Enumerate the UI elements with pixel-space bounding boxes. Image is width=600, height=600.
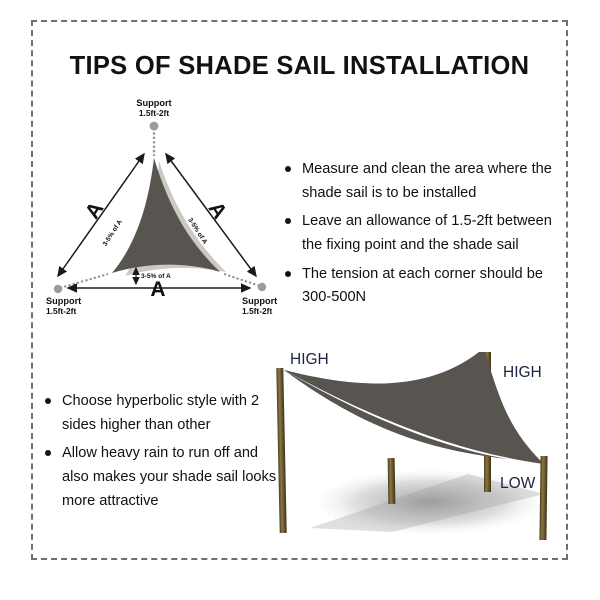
side-label-left-A: A	[81, 198, 109, 223]
triangle-shade-sail-diagram: Support 1.5ft-2ft Support 1.5ft-2ft Supp…	[36, 96, 306, 336]
support-bl-label-line2: 1.5ft-2ft	[46, 306, 76, 316]
list-item-text: Leave an allowance of 1.5-2ft between th…	[302, 213, 552, 253]
support-bottom-left-group	[54, 274, 108, 293]
support-br-dotted-line	[224, 274, 260, 286]
hyperbolic-shade-sail-diagram: HIGH HIGH LOW	[272, 352, 568, 560]
support-bl-dotted-line	[60, 274, 108, 288]
label-right-low: LOW	[500, 475, 536, 492]
side-label-bottom-sub: 3-5% of A	[141, 273, 171, 280]
list-item: Allow heavy rain to run off and also mak…	[45, 442, 280, 513]
support-top-label-line2: 1.5ft-2ft	[139, 108, 169, 118]
page-title: TIPS OF SHADE SAIL INSTALLATION	[31, 52, 568, 81]
bullet-dot-icon	[45, 398, 51, 404]
list-item: The tension at each corner should be 300…	[285, 263, 570, 310]
list-item: Leave an allowance of 1.5-2ft between th…	[285, 210, 570, 257]
bullet-dot-icon	[45, 450, 51, 456]
label-left-high: HIGH	[290, 352, 329, 368]
side-label-left-sub: 3-5% of A	[102, 219, 124, 248]
tips-list-right: Measure and clean the area where the sha…	[285, 158, 570, 315]
list-item: Measure and clean the area where the sha…	[285, 158, 570, 205]
post-middle-low	[388, 458, 396, 504]
post-right-low	[539, 456, 547, 540]
support-br-label-line1: Support	[242, 296, 277, 306]
bullet-dot-icon	[285, 166, 291, 172]
tips-list-bottom-left: Choose hyperbolic style with 2 sides hig…	[45, 390, 280, 518]
side-label-right-A: A	[204, 198, 232, 223]
list-item-text: Choose hyperbolic style with 2 sides hig…	[62, 393, 259, 433]
label-right-high-overlay: HIGH	[503, 364, 542, 382]
side-label-bottom-A: A	[150, 278, 165, 301]
list-item-text: Measure and clean the area where the sha…	[302, 161, 552, 201]
support-top-label-line1: Support	[136, 98, 171, 108]
bullet-dot-icon	[285, 271, 291, 277]
list-item: Choose hyperbolic style with 2 sides hig…	[45, 390, 280, 437]
support-top-dot	[150, 122, 159, 131]
bullet-dot-icon	[285, 218, 291, 224]
support-bl-label-line1: Support	[46, 296, 81, 306]
list-item-text: Allow heavy rain to run off and also mak…	[62, 445, 276, 508]
list-item-text: The tension at each corner should be 300…	[302, 266, 543, 306]
page-root: TIPS OF SHADE SAIL INSTALLATION Support	[0, 0, 600, 600]
support-br-dot	[258, 283, 266, 291]
support-bl-dot	[54, 285, 62, 293]
support-br-label-line2: 1.5ft-2ft	[242, 306, 272, 316]
support-top-group	[150, 122, 159, 156]
